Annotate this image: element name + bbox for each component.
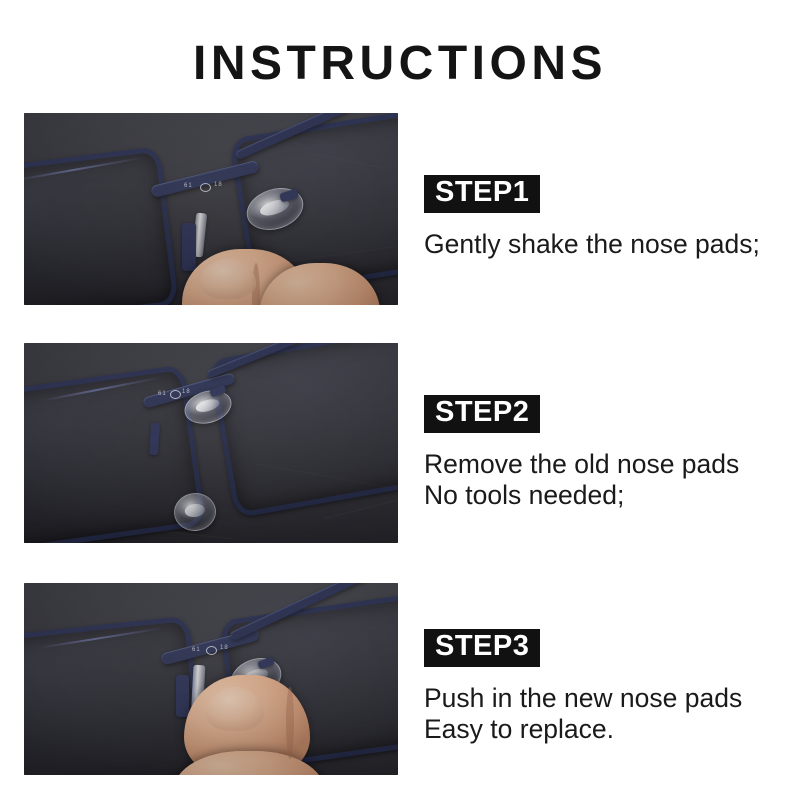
step-2-badge-wrap: STEP2 <box>424 395 540 433</box>
step-1-photo: 61 18 <box>24 113 398 305</box>
step-3-photo: 61 18 <box>24 583 398 775</box>
step-row-3: 61 18 STEP3 Push in the new nose pads Ea… <box>24 583 800 775</box>
step-1-desc-wrap: Gently shake the nose pads; <box>424 218 800 260</box>
frame-engraving-ring <box>170 390 181 399</box>
step-1-description: Gently shake the nose pads; <box>424 229 800 260</box>
page-title: INSTRUCTIONS <box>0 40 800 88</box>
frame-engraving-right: 18 <box>220 645 229 651</box>
step-row-2: 61 18 STEP2 Remove the old nose pads No … <box>24 343 800 543</box>
finger-crease <box>286 687 294 759</box>
frame-engraving-ring <box>206 646 217 655</box>
frame-engraving-right: 18 <box>182 389 191 395</box>
nose-pad-socket <box>176 675 189 717</box>
frame-engraving-ring <box>200 183 211 192</box>
step-2-description: Remove the old nose pads No tools needed… <box>424 449 800 512</box>
step-3-description: Push in the new nose pads Easy to replac… <box>424 683 800 746</box>
step-3-desc-wrap: Push in the new nose pads Easy to replac… <box>424 672 800 746</box>
step-3-badge-wrap: STEP3 <box>424 629 540 667</box>
nose-pad-socket <box>182 223 196 271</box>
step-2-text: STEP2 Remove the old nose pads No tools … <box>424 343 800 543</box>
frame-engraving-left: 61 <box>158 391 167 397</box>
frame-engraving-left: 61 <box>192 647 201 653</box>
instructions-page: INSTRUCTIONS 61 18 <box>0 0 800 800</box>
step-row-1: 61 18 STEP1 Gently shake the nose pads; <box>24 113 800 305</box>
eyeglass-lens-rim-left <box>24 146 179 305</box>
step-2-desc-wrap: Remove the old nose pads No tools needed… <box>424 438 800 512</box>
eyeglass-lens-rim-right <box>208 343 398 518</box>
step-1-badge: STEP1 <box>424 175 540 213</box>
step-3-badge: STEP3 <box>424 629 540 667</box>
step-1-badge-wrap: STEP1 <box>424 175 540 213</box>
frame-engraving-right: 18 <box>214 182 223 188</box>
frame-engraving-left: 61 <box>184 183 193 189</box>
step-1-text: STEP1 Gently shake the nose pads; <box>424 113 800 305</box>
step-3-text: STEP3 Push in the new nose pads Easy to … <box>424 583 800 775</box>
step-2-badge: STEP2 <box>424 395 540 433</box>
step-2-photo: 61 18 <box>24 343 398 543</box>
